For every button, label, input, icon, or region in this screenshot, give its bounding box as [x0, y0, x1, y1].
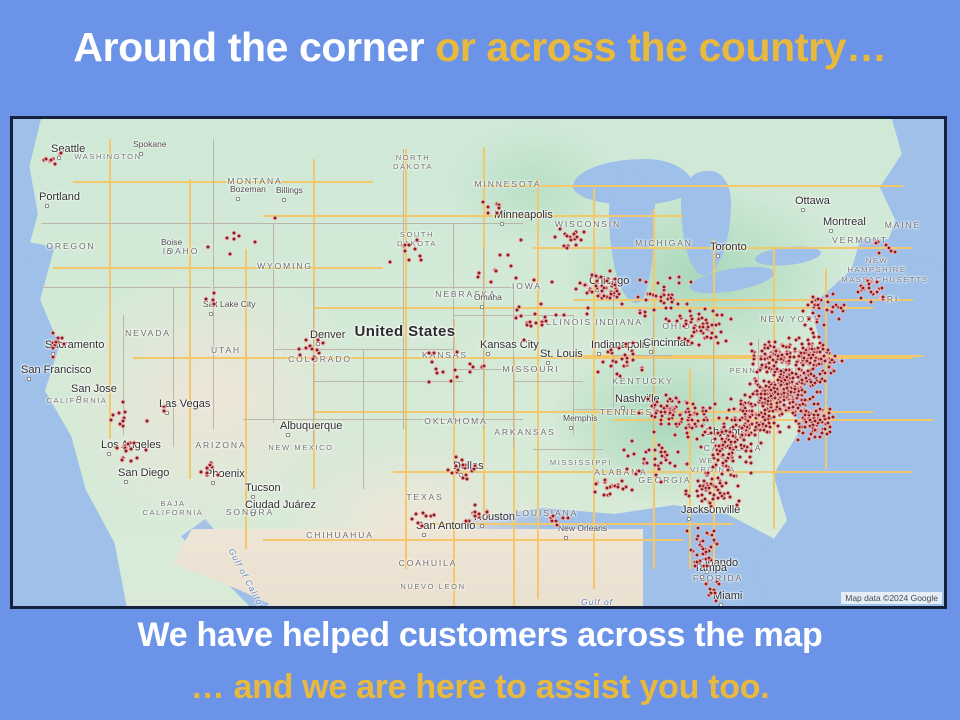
customer-dot[interactable] [710, 533, 715, 538]
customer-dot[interactable] [739, 402, 744, 407]
customer-dot[interactable] [414, 512, 419, 517]
customer-dot[interactable] [720, 472, 725, 477]
customer-dot[interactable] [660, 446, 665, 451]
customer-dot[interactable] [705, 564, 710, 569]
customer-dot[interactable] [297, 347, 302, 352]
customer-dot[interactable] [776, 424, 781, 429]
customer-dot[interactable] [675, 319, 680, 324]
customer-dot[interactable] [714, 599, 719, 604]
customer-dot[interactable] [644, 298, 649, 303]
customer-dot[interactable] [732, 474, 737, 479]
customer-dot[interactable] [707, 486, 712, 491]
customer-dot[interactable] [544, 319, 549, 324]
customer-dot[interactable] [767, 340, 772, 345]
customer-dot[interactable] [212, 302, 217, 307]
customer-dot[interactable] [690, 317, 695, 322]
customer-dot[interactable] [718, 491, 723, 496]
customer-dot[interactable] [793, 347, 798, 352]
customer-dot[interactable] [574, 287, 579, 292]
customer-dot[interactable] [733, 440, 738, 445]
customer-dot[interactable] [739, 443, 744, 448]
customer-dot[interactable] [727, 408, 732, 413]
customer-dot[interactable] [413, 247, 418, 252]
customer-dot[interactable] [826, 348, 831, 353]
customer-dot[interactable] [787, 336, 792, 341]
customer-dot[interactable] [782, 391, 787, 396]
customer-dot[interactable] [825, 294, 830, 299]
customer-dot[interactable] [621, 487, 626, 492]
customer-dot[interactable] [562, 313, 567, 318]
customer-dot[interactable] [766, 399, 771, 404]
customer-dot[interactable] [590, 290, 595, 295]
customer-dot[interactable] [822, 323, 827, 328]
customer-dot[interactable] [686, 339, 691, 344]
customer-dot[interactable] [689, 280, 694, 285]
customer-dot[interactable] [723, 440, 728, 445]
customer-dot[interactable] [678, 413, 683, 418]
customer-dot[interactable] [468, 370, 473, 375]
customer-dot[interactable] [755, 389, 760, 394]
customer-dot[interactable] [768, 355, 773, 360]
customer-dot[interactable] [748, 455, 753, 460]
customer-dot[interactable] [642, 457, 647, 462]
customer-dot[interactable] [565, 246, 570, 251]
customer-dot[interactable] [804, 409, 809, 414]
customer-dot[interactable] [204, 297, 209, 302]
customer-dot[interactable] [826, 300, 831, 305]
customer-dot[interactable] [738, 418, 743, 423]
customer-dot[interactable] [51, 331, 56, 336]
customer-dot[interactable] [121, 400, 126, 405]
customer-dot[interactable] [407, 258, 412, 263]
customer-dot[interactable] [779, 383, 784, 388]
customer-dot[interactable] [757, 423, 762, 428]
customer-dot[interactable] [145, 419, 150, 424]
customer-dot[interactable] [603, 478, 608, 483]
customer-dot[interactable] [656, 281, 661, 286]
customer-dot[interactable] [228, 252, 233, 257]
customer-dot[interactable] [706, 325, 711, 330]
customer-dot[interactable] [750, 349, 755, 354]
customer-dot[interactable] [460, 458, 465, 463]
customer-dot[interactable] [749, 402, 754, 407]
customer-dot[interactable] [54, 340, 59, 345]
customer-dot[interactable] [659, 480, 664, 485]
customer-dot[interactable] [625, 467, 630, 472]
customer-dot[interactable] [831, 292, 836, 297]
customer-dot[interactable] [519, 238, 524, 243]
customer-dot[interactable] [51, 355, 56, 360]
customer-dot[interactable] [631, 358, 636, 363]
customer-dot[interactable] [678, 314, 683, 319]
customer-dot[interactable] [550, 280, 555, 285]
customer-dot[interactable] [884, 243, 889, 248]
customer-dot[interactable] [801, 309, 806, 314]
customer-dot[interactable] [600, 289, 605, 294]
customer-dot[interactable] [561, 516, 566, 521]
customer-dot[interactable] [731, 425, 736, 430]
customer-dot[interactable] [464, 519, 469, 524]
customer-dot[interactable] [59, 151, 64, 156]
customer-dot[interactable] [662, 301, 667, 306]
customer-dot[interactable] [797, 429, 802, 434]
customer-dot[interactable] [199, 470, 204, 475]
customer-dot[interactable] [748, 415, 753, 420]
customer-dot[interactable] [703, 307, 708, 312]
customer-dot[interactable] [688, 309, 693, 314]
customer-dot[interactable] [232, 237, 237, 242]
customer-dot[interactable] [714, 335, 719, 340]
customer-dot[interactable] [419, 258, 424, 263]
customer-dot[interactable] [472, 467, 477, 472]
customer-dot[interactable] [60, 336, 65, 341]
customer-dot[interactable] [593, 490, 598, 495]
customer-dot[interactable] [740, 426, 745, 431]
customer-dot[interactable] [721, 453, 726, 458]
customer-dot[interactable] [455, 375, 460, 380]
customer-dot[interactable] [794, 419, 799, 424]
customer-dot[interactable] [692, 330, 697, 335]
customer-dot[interactable] [793, 387, 798, 392]
customer-dot[interactable] [620, 357, 625, 362]
customer-dot[interactable] [700, 493, 705, 498]
customer-dot[interactable] [725, 416, 730, 421]
customer-dot[interactable] [123, 410, 128, 415]
customer-dot[interactable] [304, 338, 309, 343]
customer-dot[interactable] [811, 311, 816, 316]
customer-dot[interactable] [616, 485, 621, 490]
customer-dot[interactable] [704, 318, 709, 323]
customer-dot[interactable] [605, 486, 610, 491]
customer-dot[interactable] [757, 413, 762, 418]
customer-dot[interactable] [702, 479, 707, 484]
customer-dot[interactable] [707, 556, 712, 561]
customer-dot[interactable] [763, 408, 768, 413]
customer-dot[interactable] [695, 560, 700, 565]
customer-dot[interactable] [708, 491, 713, 496]
customer-dot[interactable] [553, 235, 558, 240]
customer-dot[interactable] [585, 291, 590, 296]
customer-dot[interactable] [740, 433, 745, 438]
customer-dot[interactable] [784, 368, 789, 373]
customer-dot[interactable] [796, 438, 801, 443]
customer-dot[interactable] [640, 368, 645, 373]
customer-dot[interactable] [495, 211, 500, 216]
customer-dot[interactable] [804, 376, 809, 381]
customer-dot[interactable] [646, 397, 651, 402]
customer-dot[interactable] [216, 473, 221, 478]
customer-dot[interactable] [790, 371, 795, 376]
customer-dot[interactable] [700, 424, 705, 429]
customer-dot[interactable] [728, 495, 733, 500]
customer-dot[interactable] [803, 323, 808, 328]
customer-dot[interactable] [711, 309, 716, 314]
customer-dot[interactable] [816, 297, 821, 302]
customer-dot[interactable] [118, 422, 123, 427]
customer-dot[interactable] [430, 360, 435, 365]
customer-dot[interactable] [817, 362, 822, 367]
customer-dot[interactable] [717, 416, 722, 421]
customer-dot[interactable] [724, 339, 729, 344]
customer-dot[interactable] [731, 434, 736, 439]
customer-dot[interactable] [162, 409, 167, 414]
customer-dot[interactable] [817, 335, 822, 340]
customer-dot[interactable] [648, 292, 653, 297]
customer-dot[interactable] [867, 282, 872, 287]
customer-dot[interactable] [772, 421, 777, 426]
customer-dot[interactable] [732, 407, 737, 412]
customer-dot[interactable] [699, 445, 704, 450]
customer-dot[interactable] [494, 269, 499, 274]
customer-dot[interactable] [237, 234, 242, 239]
customer-dot[interactable] [859, 296, 864, 301]
customer-dot[interactable] [818, 435, 823, 440]
customer-dot[interactable] [311, 357, 316, 362]
customer-dot[interactable] [722, 425, 727, 430]
customer-dot[interactable] [634, 472, 639, 477]
customer-dot[interactable] [522, 338, 527, 343]
customer-dot[interactable] [710, 477, 715, 482]
customer-dot[interactable] [657, 467, 662, 472]
customer-dot[interactable] [659, 422, 664, 427]
customer-dot[interactable] [659, 410, 664, 415]
customer-dot[interactable] [685, 462, 690, 467]
customer-dot[interactable] [454, 455, 459, 460]
customer-dot[interactable] [709, 431, 714, 436]
customer-dot[interactable] [811, 331, 816, 336]
customer-dot[interactable] [626, 454, 631, 459]
customer-dot[interactable] [719, 330, 724, 335]
customer-dot[interactable] [609, 364, 614, 369]
customer-dot[interactable] [837, 317, 842, 322]
customer-dot[interactable] [532, 278, 537, 283]
customer-dot[interactable] [664, 306, 669, 311]
customer-dot[interactable] [403, 249, 408, 254]
customer-dot[interactable] [695, 553, 700, 558]
map-container[interactable]: WASHINGTONOREGONIDAHOMONTANANORTHDAKOTAS… [10, 116, 947, 609]
customer-dot[interactable] [652, 308, 657, 313]
customer-dot[interactable] [486, 211, 491, 216]
customer-dot[interactable] [630, 439, 635, 444]
customer-dot[interactable] [533, 312, 538, 317]
customer-dot[interactable] [684, 489, 689, 494]
customer-dot[interactable] [441, 370, 446, 375]
customer-dot[interactable] [749, 461, 754, 466]
customer-dot[interactable] [673, 433, 678, 438]
customer-dot[interactable] [615, 289, 620, 294]
customer-dot[interactable] [115, 446, 120, 451]
customer-dot[interactable] [594, 482, 599, 487]
customer-dot[interactable] [762, 428, 767, 433]
customer-dot[interactable] [654, 473, 659, 478]
customer-dot[interactable] [653, 415, 658, 420]
customer-dot[interactable] [711, 453, 716, 458]
customer-dot[interactable] [654, 294, 659, 299]
customer-dot[interactable] [558, 227, 563, 232]
customer-dot[interactable] [875, 290, 880, 295]
customer-dot[interactable] [403, 243, 408, 248]
customer-dot[interactable] [742, 438, 747, 443]
customer-dot[interactable] [706, 471, 711, 476]
customer-dot[interactable] [782, 398, 787, 403]
customer-dot[interactable] [590, 273, 595, 278]
customer-dot[interactable] [704, 582, 709, 587]
customer-dot[interactable] [724, 459, 729, 464]
customer-dot[interactable] [614, 360, 619, 365]
customer-dot[interactable] [738, 455, 743, 460]
customer-dot[interactable] [748, 382, 753, 387]
customer-dot[interactable] [815, 390, 820, 395]
customer-dot[interactable] [880, 286, 885, 291]
customer-dot[interactable] [668, 397, 673, 402]
customer-dot[interactable] [609, 292, 614, 297]
customer-dot[interactable] [388, 260, 393, 265]
customer-dot[interactable] [708, 501, 713, 506]
customer-dot[interactable] [809, 380, 814, 385]
customer-dot[interactable] [124, 449, 129, 454]
customer-dot[interactable] [554, 313, 559, 318]
customer-dot[interactable] [774, 349, 779, 354]
customer-dot[interactable] [582, 230, 587, 235]
customer-dot[interactable] [225, 236, 230, 241]
customer-dot[interactable] [731, 459, 736, 464]
customer-dot[interactable] [718, 481, 723, 486]
customer-dot[interactable] [743, 393, 748, 398]
customer-dot[interactable] [807, 317, 812, 322]
customer-dot[interactable] [304, 346, 309, 351]
customer-dot[interactable] [801, 363, 806, 368]
customer-dot[interactable] [645, 461, 650, 466]
customer-dot[interactable] [695, 412, 700, 417]
map-canvas[interactable]: WASHINGTONOREGONIDAHOMONTANANORTHDAKOTAS… [13, 119, 944, 606]
customer-dot[interactable] [697, 343, 702, 348]
customer-dot[interactable] [825, 432, 830, 437]
customer-dot[interactable] [830, 310, 835, 315]
customer-dot[interactable] [686, 435, 691, 440]
customer-dot[interactable] [585, 312, 590, 317]
customer-dot[interactable] [839, 306, 844, 311]
customer-dot[interactable] [811, 423, 816, 428]
customer-dot[interactable] [638, 278, 643, 283]
customer-dot[interactable] [781, 344, 786, 349]
customer-dot[interactable] [574, 243, 579, 248]
customer-dot[interactable] [813, 428, 818, 433]
customer-dot[interactable] [599, 275, 604, 280]
customer-dot[interactable] [737, 499, 742, 504]
customer-dot[interactable] [749, 471, 754, 476]
customer-dot[interactable] [823, 379, 828, 384]
customer-dot[interactable] [676, 302, 681, 307]
customer-dot[interactable] [840, 359, 845, 364]
customer-dot[interactable] [653, 403, 658, 408]
customer-dot[interactable] [473, 503, 478, 508]
customer-dot[interactable] [461, 476, 466, 481]
customer-dot[interactable] [701, 539, 706, 544]
customer-dot[interactable] [717, 444, 722, 449]
customer-dot[interactable] [823, 371, 828, 376]
customer-dot[interactable] [673, 464, 678, 469]
customer-dot[interactable] [712, 538, 717, 543]
customer-dot[interactable] [632, 452, 637, 457]
customer-dot[interactable] [208, 463, 213, 468]
customer-dot[interactable] [818, 350, 823, 355]
customer-dot[interactable] [420, 524, 425, 529]
customer-dot[interactable] [831, 305, 836, 310]
customer-dot[interactable] [539, 302, 544, 307]
customer-dot[interactable] [727, 452, 732, 457]
customer-dot[interactable] [755, 370, 760, 375]
customer-dot[interactable] [759, 396, 764, 401]
customer-dot[interactable] [716, 341, 721, 346]
customer-dot[interactable] [638, 311, 643, 316]
customer-dot[interactable] [455, 350, 460, 355]
customer-dot[interactable] [617, 346, 622, 351]
customer-dot[interactable] [785, 382, 790, 387]
customer-dot[interactable] [432, 513, 437, 518]
customer-dot[interactable] [766, 346, 771, 351]
customer-dot[interactable] [787, 359, 792, 364]
customer-dot[interactable] [669, 296, 674, 301]
customer-dot[interactable] [109, 418, 114, 423]
customer-dot[interactable] [785, 352, 790, 357]
customer-dot[interactable] [551, 514, 556, 519]
customer-dot[interactable] [791, 400, 796, 405]
customer-dot[interactable] [273, 216, 278, 221]
customer-dot[interactable] [711, 465, 716, 470]
customer-dot[interactable] [605, 279, 610, 284]
customer-dot[interactable] [620, 302, 625, 307]
customer-dot[interactable] [751, 362, 756, 367]
customer-dot[interactable] [144, 448, 149, 453]
customer-dot[interactable] [506, 253, 511, 258]
customer-dot[interactable] [534, 321, 539, 326]
customer-dot[interactable] [702, 418, 707, 423]
customer-dot[interactable] [696, 534, 701, 539]
customer-dot[interactable] [594, 284, 599, 289]
customer-dot[interactable] [733, 418, 738, 423]
customer-dot[interactable] [772, 415, 777, 420]
customer-dot[interactable] [509, 264, 514, 269]
customer-dot[interactable] [298, 353, 303, 358]
customer-dot[interactable] [736, 484, 741, 489]
customer-dot[interactable] [815, 320, 820, 325]
customer-dot[interactable] [482, 364, 487, 369]
customer-dot[interactable] [803, 390, 808, 395]
customer-dot[interactable] [794, 338, 799, 343]
customer-dot[interactable] [693, 422, 698, 427]
customer-dot[interactable] [703, 430, 708, 435]
customer-dot[interactable] [206, 245, 211, 250]
customer-dot[interactable] [481, 200, 486, 205]
customer-dot[interactable] [816, 303, 821, 308]
customer-dot[interactable] [698, 484, 703, 489]
customer-dot[interactable] [817, 314, 822, 319]
customer-dot[interactable] [787, 406, 792, 411]
customer-dot[interactable] [769, 388, 774, 393]
customer-dot[interactable] [823, 427, 828, 432]
customer-dot[interactable] [759, 441, 764, 446]
customer-dot[interactable] [802, 356, 807, 361]
customer-dot[interactable] [668, 461, 673, 466]
customer-dot[interactable] [861, 286, 866, 291]
customer-dot[interactable] [877, 251, 882, 256]
customer-dot[interactable] [461, 463, 466, 468]
customer-dot[interactable] [668, 276, 673, 281]
customer-dot[interactable] [704, 409, 709, 414]
customer-dot[interactable] [669, 306, 674, 311]
customer-dot[interactable] [792, 355, 797, 360]
customer-dot[interactable] [579, 238, 584, 243]
